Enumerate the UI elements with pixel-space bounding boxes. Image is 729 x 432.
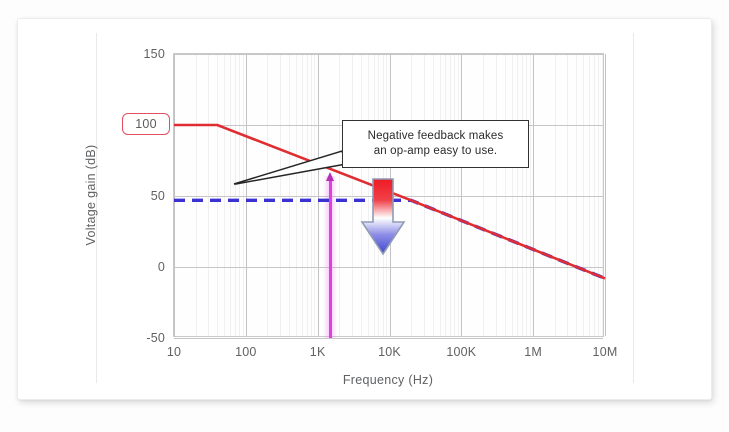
plot-area: 150500-50 101001K10K100K1M10M (173, 53, 604, 337)
y-axis-label: Voltage gain (dB) (84, 145, 98, 246)
hgrid (174, 338, 603, 339)
y-tick-100-highlight-label: 100 (135, 117, 156, 131)
y-tick-label: 150 (144, 47, 165, 61)
gain-reduction-down-arrow-icon (360, 178, 406, 256)
vgrid-major (605, 54, 606, 336)
y-tick-label: -50 (146, 331, 165, 345)
x-tick-label: 10M (593, 345, 618, 359)
screenshot-root: Voltage gain (dB) 100 Frequency (Hz) 150… (0, 0, 729, 432)
x-tick-label: 10K (378, 345, 401, 359)
y-tick-100-highlight-box: 100 (122, 113, 170, 135)
y-tick-label: 0 (158, 260, 165, 274)
callout-box: Negative feedback makes an op-amp easy t… (342, 120, 529, 168)
x-tick-label: 100 (235, 345, 256, 359)
chart-card: Voltage gain (dB) 100 Frequency (Hz) 150… (17, 18, 712, 400)
x-tick-label: 1K (310, 345, 326, 359)
x-tick-label: 100K (446, 345, 476, 359)
x-tick-label: 1M (524, 345, 542, 359)
callout-pointer-tail (234, 140, 346, 184)
callout-line-1: Negative feedback makes (368, 129, 504, 144)
bode-plot-figure: Voltage gain (dB) 100 Frequency (Hz) 150… (18, 19, 713, 401)
y-tick-label: 50 (151, 189, 165, 203)
x-tick-label: 10 (167, 345, 181, 359)
x-axis-label: Frequency (Hz) (343, 373, 433, 387)
callout-line-2: an op-amp easy to use. (374, 144, 497, 159)
